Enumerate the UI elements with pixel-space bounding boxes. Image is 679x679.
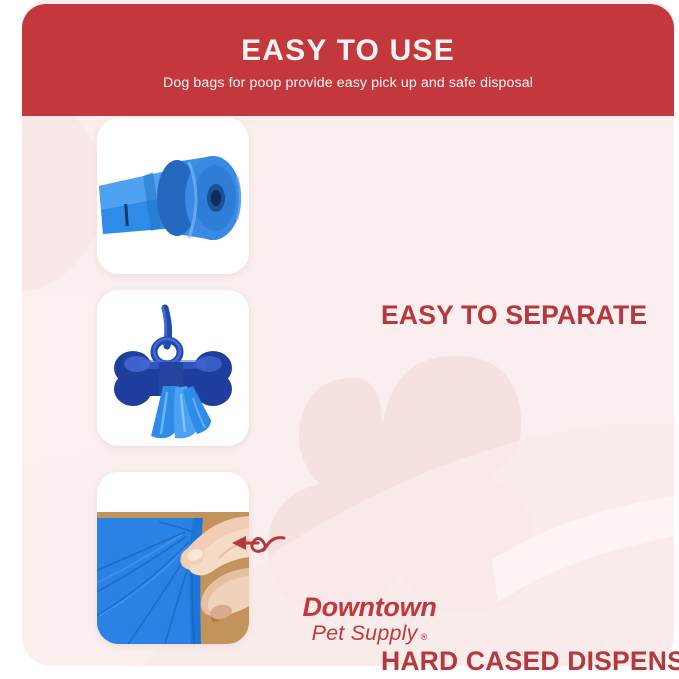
feature-image-card-1 — [97, 118, 249, 274]
feature-label-1: EASY TO SEPARATE — [381, 302, 647, 329]
hand-pulling-open-blue-bag-icon — [97, 472, 249, 644]
bone-shaped-dispenser-with-bags-icon — [97, 290, 249, 446]
curved-loop-arrow-icon — [228, 524, 290, 564]
feature-row-2: HARD CASED DISPENSER — [97, 290, 249, 446]
page-title: EASY TO USE — [241, 35, 455, 67]
feature-row-3: ONE HAND OPEN — [97, 472, 249, 644]
infographic-canvas: EASY TO USE Dog bags for poop provide ea… — [0, 0, 679, 679]
registered-trademark-mark: ® — [421, 632, 428, 643]
header-subtitle: Dog bags for poop provide easy pick up a… — [163, 75, 533, 91]
roll-of-blue-poop-bags-icon — [97, 118, 249, 274]
brand-logo: Downtown Pet Supply ® — [262, 594, 477, 646]
feature-image-card-3 — [97, 472, 249, 644]
feature-row-1: EASY TO SEPARATE — [97, 118, 249, 274]
brand-name-line-1: Downtown — [262, 594, 477, 621]
feature-image-card-2 — [97, 290, 249, 446]
feature-label-2: HARD CASED DISPENSER — [381, 648, 679, 675]
header-banner: EASY TO USE Dog bags for poop provide ea… — [22, 4, 674, 116]
brand-name-line-2: Pet Supply — [312, 621, 418, 646]
